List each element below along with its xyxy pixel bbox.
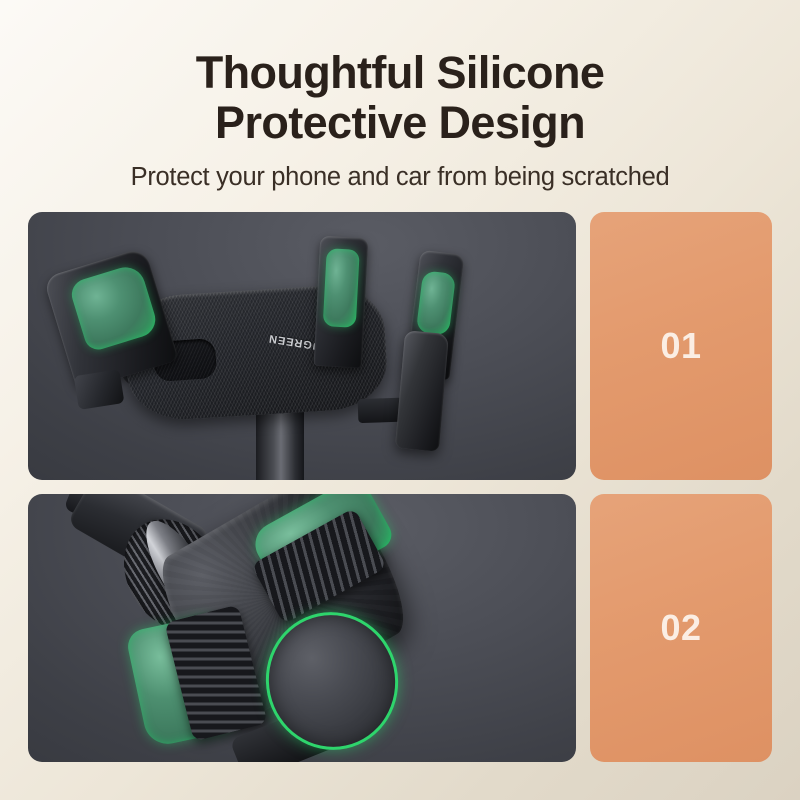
feature-row-2: 02 (28, 494, 772, 762)
step-number-panel-02: 02 (590, 494, 772, 762)
headline-line-2: Protective Design (28, 98, 772, 148)
side-bracket (395, 330, 449, 451)
step-number-label: 02 (660, 607, 701, 649)
photo-stage: UGREEN (28, 212, 576, 480)
step-number-panel-01: 01 (590, 212, 772, 480)
silicone-pad (323, 248, 360, 328)
grip-arm-foot (74, 369, 125, 410)
photo-stage (28, 494, 576, 762)
headline-line-1: Thoughtful Silicone (28, 48, 772, 98)
page-subtitle: Protect your phone and car from being sc… (28, 162, 772, 192)
promo-page: Thoughtful Silicone Protective Design Pr… (0, 0, 800, 800)
step-number-label: 01 (660, 325, 701, 367)
product-photo-vent-clip (28, 494, 576, 762)
header-block: Thoughtful Silicone Protective Design Pr… (0, 48, 800, 192)
grip-arm-center (314, 236, 369, 368)
page-title: Thoughtful Silicone Protective Design (28, 48, 772, 148)
product-photo-cradle: UGREEN (28, 212, 576, 480)
feature-row-1: UGREEN 01 (28, 212, 772, 480)
